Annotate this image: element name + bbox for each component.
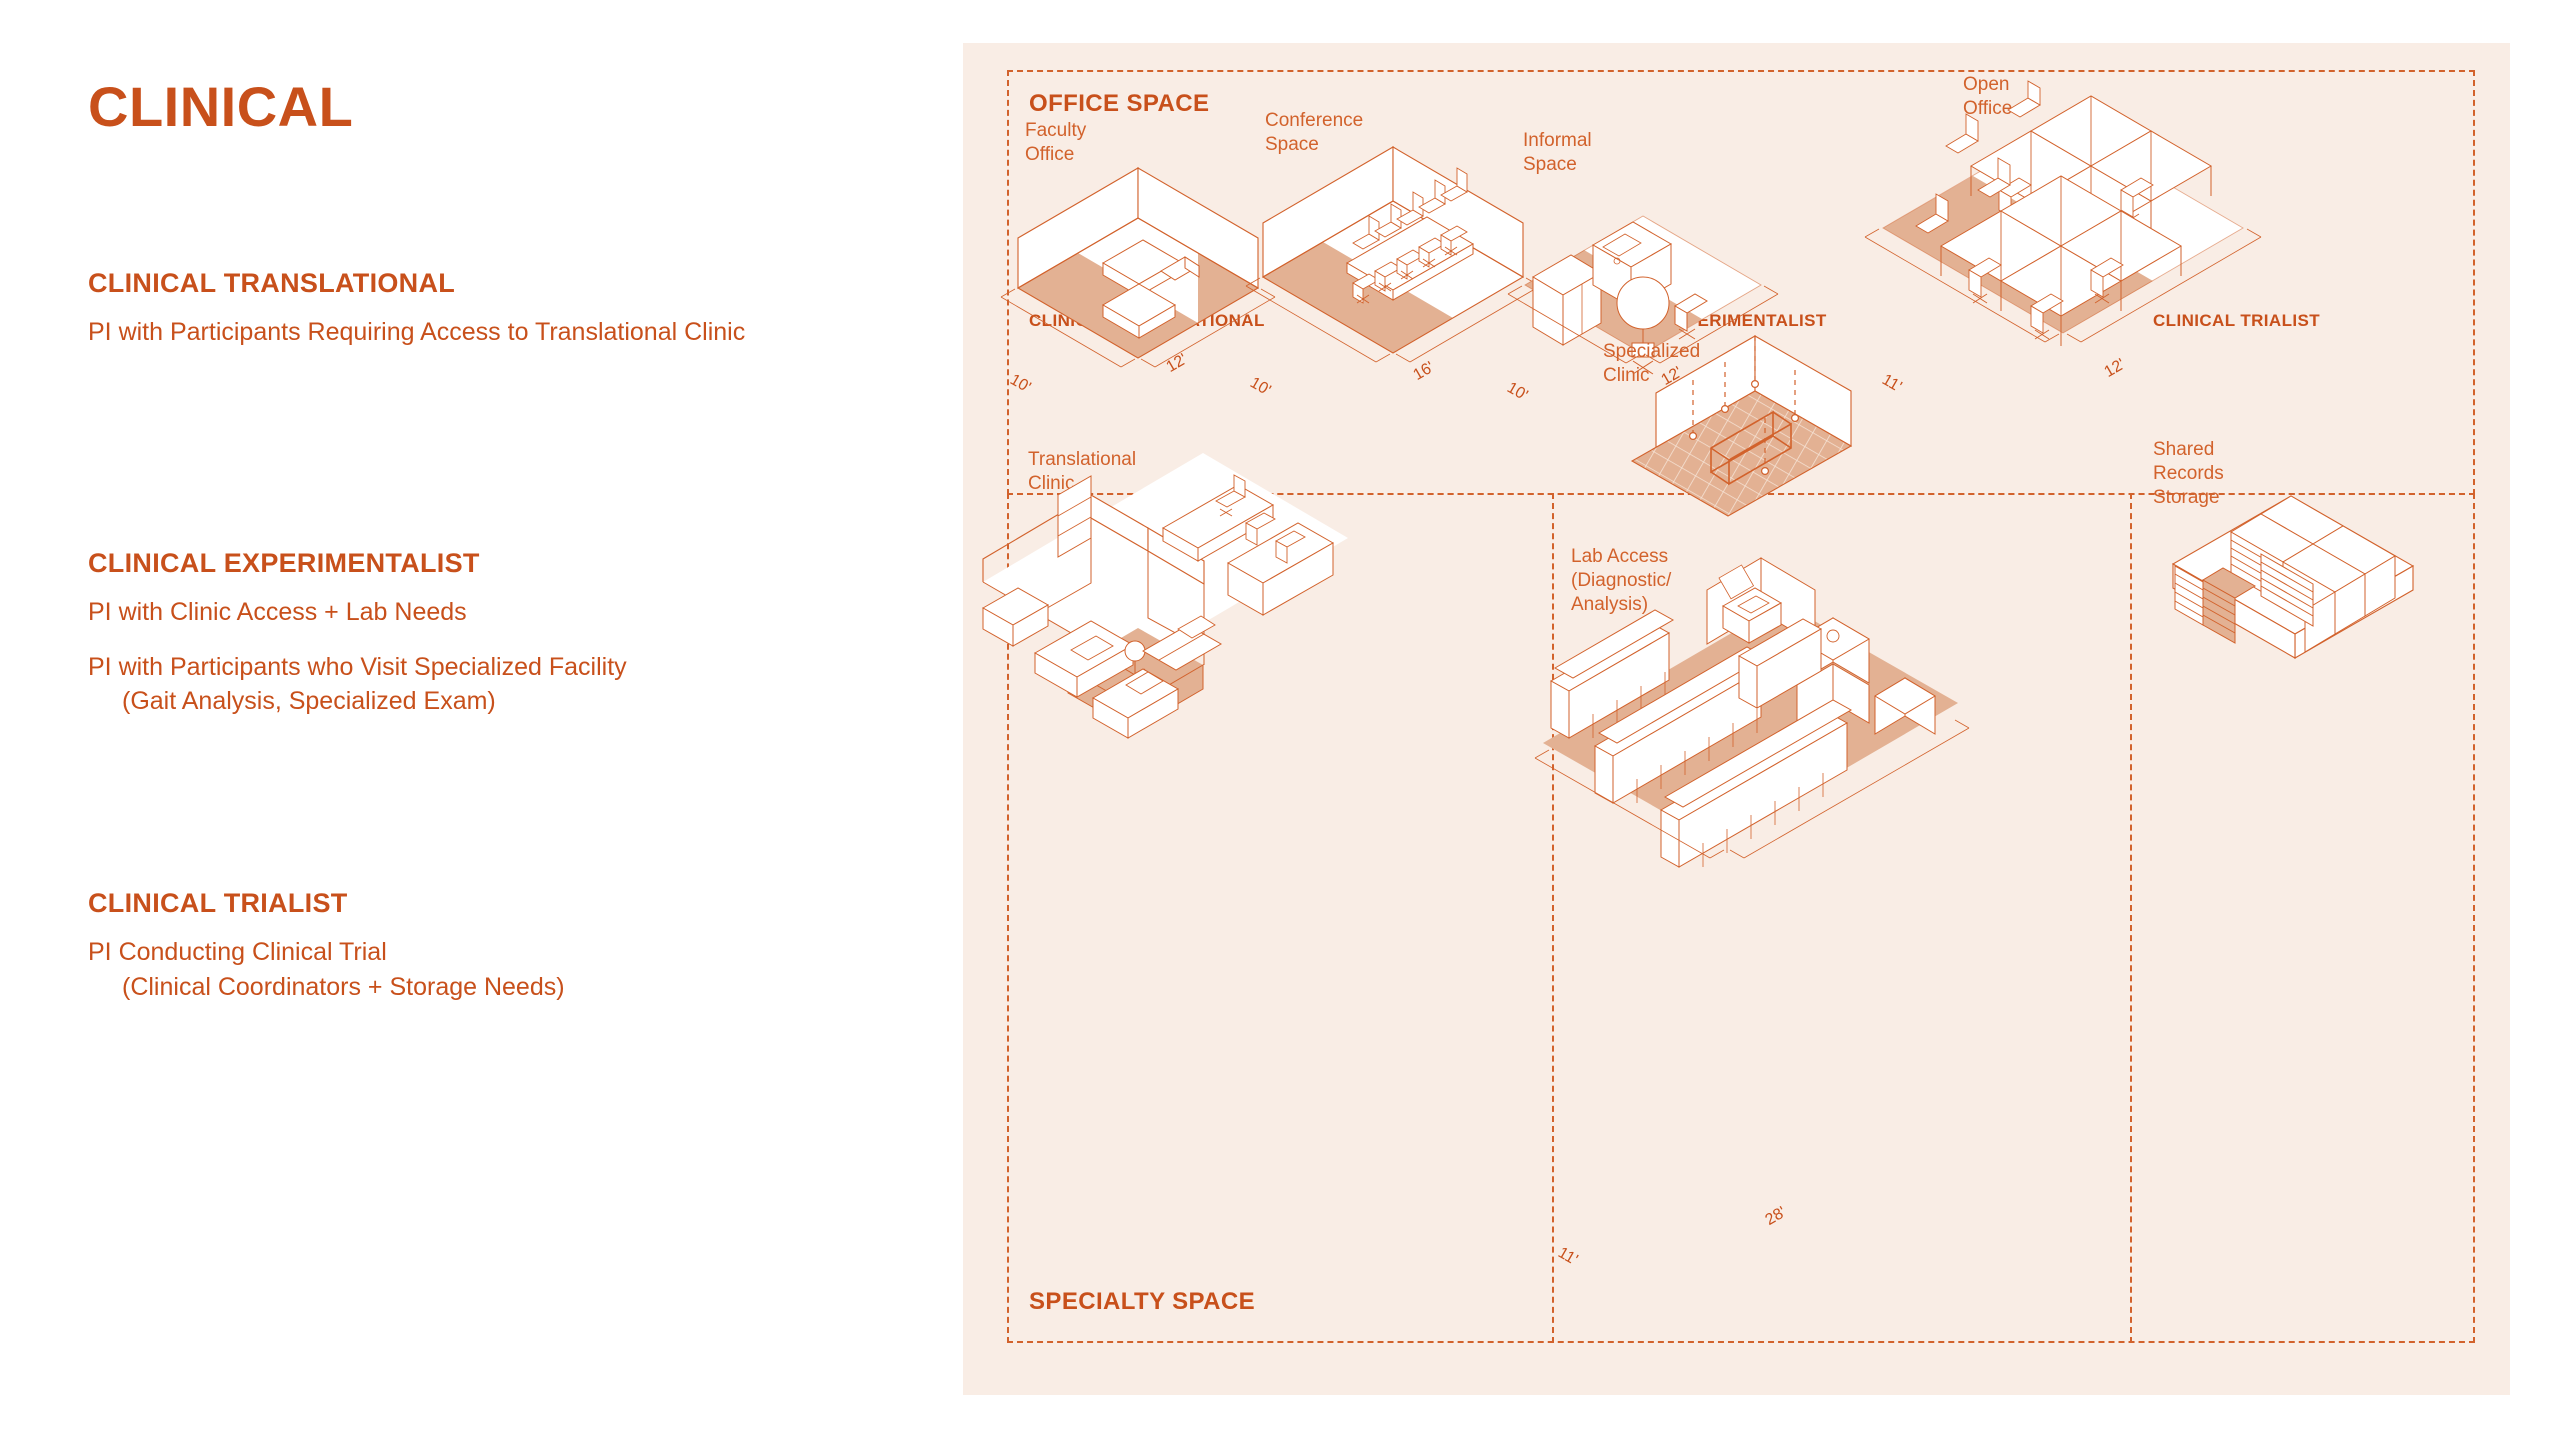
- role-description-line: PI with Participants who Visit Specializ…: [88, 650, 627, 719]
- role-line-indent: (Clinical Coordinators + Storage Needs): [88, 970, 565, 1005]
- role-block-clinical-translational: CLINICAL TRANSLATIONAL PI with Participa…: [88, 268, 745, 350]
- role-line-indent: (Gait Analysis, Specialized Exam): [88, 684, 627, 719]
- text-panel: CLINICAL CLINICAL TRANSLATIONAL PI with …: [0, 0, 963, 1441]
- iso-lab-access: [1533, 548, 2013, 968]
- role-line-main: PI Conducting Clinical Trial: [88, 938, 387, 966]
- iso-translational-clinic: [973, 443, 1373, 773]
- diagram-canvas: OFFICE SPACE SPECIALTY SPACE CLINICAL TR…: [963, 43, 2510, 1395]
- iso-shared-records-storage: [2143, 468, 2453, 698]
- role-title: CLINICAL TRANSLATIONAL: [88, 268, 745, 299]
- role-line-main: PI with Participants who Visit Specializ…: [88, 653, 627, 681]
- role-line-main: PI with Clinic Access + Lab Needs: [88, 598, 467, 626]
- iso-specialized-clinic: [1583, 318, 1923, 543]
- room-caption-informal-space: Informal Space: [1523, 129, 1592, 177]
- role-title: CLINICAL TRIALIST: [88, 888, 565, 919]
- role-description-line: PI with Clinic Access + Lab Needs: [88, 595, 627, 630]
- office-space-heading: OFFICE SPACE: [1029, 90, 1209, 118]
- page-title: CLINICAL: [88, 78, 353, 137]
- role-description-line: PI Conducting Clinical Trial (Clinical C…: [88, 935, 565, 1004]
- specialty-space-heading: SPECIALTY SPACE: [1029, 1288, 1255, 1316]
- role-block-clinical-experimentalist: CLINICAL EXPERIMENTALIST PI with Clinic …: [88, 548, 627, 719]
- role-description-line: PI with Participants Requiring Access to…: [88, 315, 745, 350]
- role-line-main: PI with Participants Requiring Access to…: [88, 318, 745, 346]
- role-block-clinical-trialist: CLINICAL TRIALIST PI Conducting Clinical…: [88, 888, 565, 1004]
- role-title: CLINICAL EXPERIMENTALIST: [88, 548, 627, 579]
